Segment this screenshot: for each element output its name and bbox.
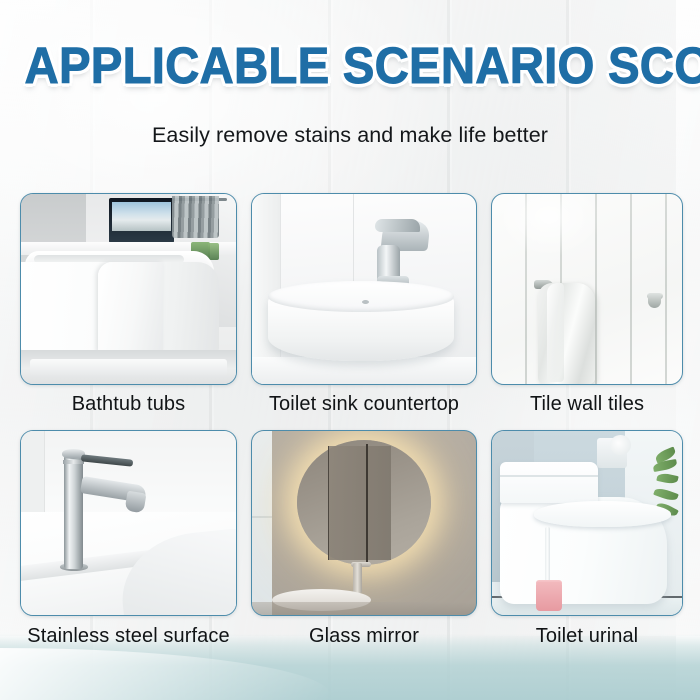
- plant-leaf: [656, 472, 678, 485]
- towel-fold-highlight: [547, 283, 564, 382]
- page-title: APPLICABLE SCENARIO SCOPE: [25, 40, 676, 91]
- photo-tile-wall: [491, 193, 683, 385]
- plant-leaf: [653, 486, 679, 503]
- mirror-floor: [252, 602, 476, 615]
- green-bottle-small: [208, 243, 219, 260]
- reflected-door-edge: [366, 444, 368, 562]
- scenario-label-bathtub-tubs: Bathtub tubs: [20, 393, 237, 416]
- scenario-grid: Bathtub tubs Toilet sink countertop: [20, 193, 683, 648]
- floor-highlight: [0, 648, 330, 700]
- photo-toilet: [491, 430, 683, 616]
- photo-stainless-faucet: [20, 430, 237, 616]
- photo-glass-mirror: [251, 430, 477, 616]
- bathtub-front-panel: [98, 262, 163, 351]
- window-frame-icon: [109, 198, 174, 244]
- poster-root: APPLICABLE SCENARIO SCOPE Easily remove …: [0, 0, 700, 700]
- toilet-seat-lid: [534, 501, 671, 527]
- scenario-card-toilet-sink-countertop[interactable]: Toilet sink countertop: [251, 193, 477, 416]
- faucet-lever-handle: [375, 219, 420, 232]
- bathtub-step: [30, 359, 228, 376]
- mirror-side-wall-tile-line: [252, 516, 272, 518]
- scenario-card-tile-wall-tiles[interactable]: Tile wall tiles: [491, 193, 683, 416]
- scenario-card-toilet-urinal[interactable]: Toilet urinal: [491, 430, 683, 648]
- scenario-card-bathtub-tubs[interactable]: Bathtub tubs: [20, 193, 237, 416]
- mirror-sink-tap: [353, 563, 362, 592]
- scenario-card-glass-mirror[interactable]: Glass mirror: [251, 430, 477, 648]
- page-subtitle: Easily remove stains and make life bette…: [0, 123, 700, 148]
- steel-wall-tile: [21, 431, 45, 516]
- scenario-label-toilet-sink-countertop: Toilet sink countertop: [251, 393, 477, 416]
- toilet-paper-roll: [610, 435, 631, 455]
- sink-countertop: [252, 357, 476, 384]
- scenario-label-glass-mirror: Glass mirror: [251, 625, 477, 648]
- scenario-label-toilet-urinal: Toilet urinal: [491, 625, 683, 648]
- scenario-label-stainless-steel-surface: Stainless steel surface: [20, 625, 237, 648]
- scenario-row-2: Stainless steel surface Glass mirror: [20, 430, 683, 648]
- toilet-tank-seam: [500, 475, 599, 477]
- scenario-label-tile-wall-tiles: Tile wall tiles: [491, 393, 683, 416]
- hanging-towels: [172, 196, 219, 238]
- photo-vessel-sink: [251, 193, 477, 385]
- toilet-tank: [500, 462, 599, 502]
- window-view: [112, 202, 171, 230]
- scenario-card-stainless-steel-surface[interactable]: Stainless steel surface: [20, 430, 237, 648]
- mirror-side-wall: [252, 431, 272, 615]
- wall-hook-icon: [648, 293, 661, 308]
- photo-bathtub: [20, 193, 237, 385]
- vessel-sink-rim: [268, 281, 454, 311]
- reflected-door: [328, 446, 391, 560]
- toilet-brush-holder: [536, 582, 563, 611]
- scenario-row-1: Bathtub tubs Toilet sink countertop: [20, 193, 683, 416]
- faucet-column: [64, 453, 83, 569]
